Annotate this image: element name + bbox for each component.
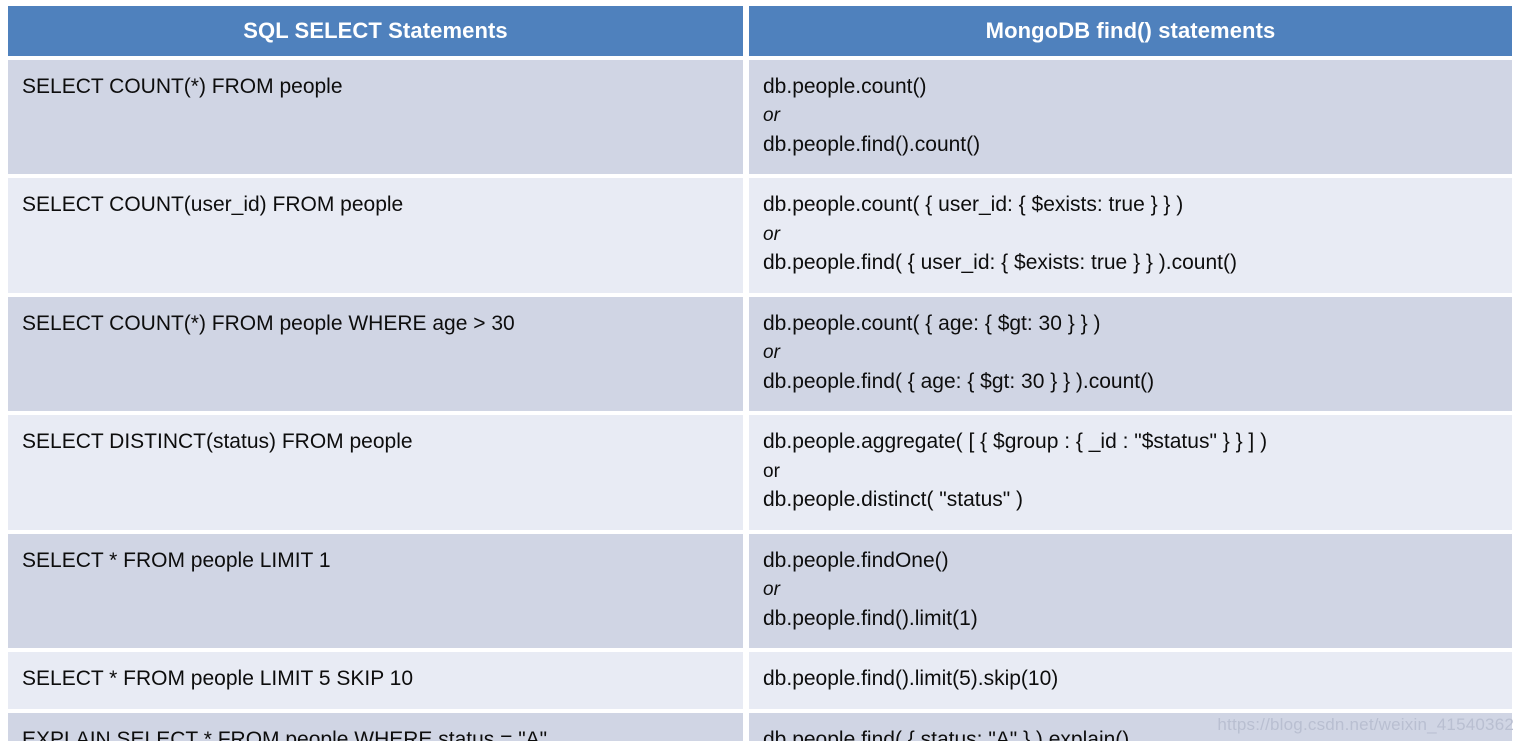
sql-statement-cell: SELECT COUNT(*) FROM people <box>8 60 743 174</box>
alternative-separator-or: or <box>763 458 1498 486</box>
table-row: SELECT COUNT(user_id) FROM peopledb.peop… <box>8 178 1512 292</box>
sql-statement-text: EXPLAIN SELECT * FROM people WHERE statu… <box>22 725 729 741</box>
sql-statement-cell: SELECT COUNT(user_id) FROM people <box>8 178 743 292</box>
table-row: SELECT DISTINCT(status) FROM peopledb.pe… <box>8 415 1512 529</box>
mongodb-statement-alternative: db.people.find().limit(1) <box>763 604 1498 634</box>
alternative-separator-or: or <box>763 221 1498 249</box>
alternative-separator-or: or <box>763 102 1498 130</box>
mongodb-statement-cell: db.people.find( { status: "A" } ).explai… <box>749 713 1512 741</box>
alternative-separator-or: or <box>763 576 1498 604</box>
sql-statement-text: SELECT DISTINCT(status) FROM people <box>22 427 729 457</box>
table-body: SELECT COUNT(*) FROM peopledb.people.cou… <box>8 56 1512 741</box>
mongodb-statement-cell: db.people.aggregate( [ { $group : { _id … <box>749 415 1512 529</box>
table-header: SQL SELECT Statements MongoDB find() sta… <box>8 6 1512 56</box>
mongodb-statement-primary: db.people.find().limit(5).skip(10) <box>763 664 1498 694</box>
mongodb-statement-primary: db.people.count( { age: { $gt: 30 } } ) <box>763 309 1498 339</box>
sql-statement-text: SELECT * FROM people LIMIT 5 SKIP 10 <box>22 664 729 694</box>
column-header-mongodb: MongoDB find() statements <box>749 6 1512 56</box>
mongodb-statement-primary: db.people.count() <box>763 72 1498 102</box>
sql-statement-text: SELECT * FROM people LIMIT 1 <box>22 546 729 576</box>
slide-canvas: SQL SELECT Statements MongoDB find() sta… <box>0 0 1520 741</box>
column-header-sql: SQL SELECT Statements <box>8 6 743 56</box>
sql-to-mongodb-comparison-table: SQL SELECT Statements MongoDB find() sta… <box>8 6 1512 741</box>
sql-statement-text: SELECT COUNT(*) FROM people <box>22 72 729 102</box>
mongodb-statement-cell: db.people.find().limit(5).skip(10) <box>749 652 1512 708</box>
mongodb-statement-primary: db.people.find( { status: "A" } ).explai… <box>763 725 1498 741</box>
table-row: SELECT COUNT(*) FROM people WHERE age > … <box>8 297 1512 411</box>
sql-statement-cell: SELECT * FROM people LIMIT 1 <box>8 534 743 648</box>
table-row: SELECT * FROM people LIMIT 5 SKIP 10db.p… <box>8 652 1512 708</box>
mongodb-statement-alternative: db.people.distinct( "status" ) <box>763 485 1498 515</box>
alternative-separator-or: or <box>763 339 1498 367</box>
sql-statement-cell: EXPLAIN SELECT * FROM people WHERE statu… <box>8 713 743 741</box>
table-row: SELECT * FROM people LIMIT 1db.people.fi… <box>8 534 1512 648</box>
mongodb-statement-cell: db.people.count()ordb.people.find().coun… <box>749 60 1512 174</box>
mongodb-statement-primary: db.people.findOne() <box>763 546 1498 576</box>
sql-statement-cell: SELECT DISTINCT(status) FROM people <box>8 415 743 529</box>
sql-statement-cell: SELECT COUNT(*) FROM people WHERE age > … <box>8 297 743 411</box>
mongodb-statement-cell: db.people.count( { age: { $gt: 30 } } )o… <box>749 297 1512 411</box>
mongodb-statement-alternative: db.people.find( { age: { $gt: 30 } } ).c… <box>763 367 1498 397</box>
mongodb-statement-alternative: db.people.find( { user_id: { $exists: tr… <box>763 248 1498 278</box>
sql-statement-text: SELECT COUNT(*) FROM people WHERE age > … <box>22 309 729 339</box>
header-row: SQL SELECT Statements MongoDB find() sta… <box>8 6 1512 56</box>
sql-statement-text: SELECT COUNT(user_id) FROM people <box>22 190 729 220</box>
mongodb-statement-primary: db.people.count( { user_id: { $exists: t… <box>763 190 1498 220</box>
mongodb-statement-alternative: db.people.find().count() <box>763 130 1498 160</box>
mongodb-statement-primary: db.people.aggregate( [ { $group : { _id … <box>763 427 1498 457</box>
sql-statement-cell: SELECT * FROM people LIMIT 5 SKIP 10 <box>8 652 743 708</box>
mongodb-statement-cell: db.people.count( { user_id: { $exists: t… <box>749 178 1512 292</box>
mongodb-statement-cell: db.people.findOne()ordb.people.find().li… <box>749 534 1512 648</box>
table-row: SELECT COUNT(*) FROM peopledb.people.cou… <box>8 60 1512 174</box>
table-row: EXPLAIN SELECT * FROM people WHERE statu… <box>8 713 1512 741</box>
